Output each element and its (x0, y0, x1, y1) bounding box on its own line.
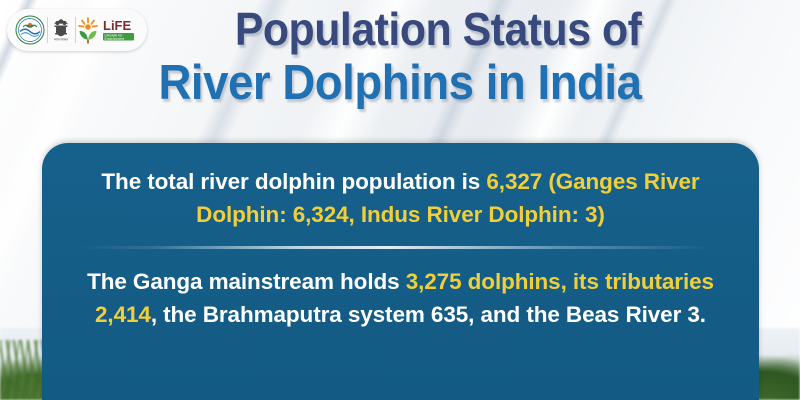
svg-text:Environment: Environment (105, 37, 125, 41)
breakdown-lead-text: The Ganga mainstream holds (87, 269, 399, 294)
ministry-emblem-logo (15, 15, 45, 45)
statistic-paragraph-total: The total river dolphin population is 6,… (72, 165, 729, 231)
panel-divider (76, 246, 725, 249)
logo-divider (75, 17, 76, 43)
logo-bar: भारत सरकार LiFE Lifestyle for Environmen… (7, 9, 147, 51)
logo-divider (47, 17, 48, 43)
national-emblem-logo: भारत सरकार (49, 17, 73, 44)
statistic-paragraph-breakdown: The Ganga mainstream holds 3,275 dolphin… (72, 265, 729, 331)
statistics-panel: The total river dolphin population is 6,… (42, 143, 759, 400)
svg-text:भारत सरकार: भारत सरकार (54, 37, 69, 41)
breakdown-trailing-text: , the Brahmaputra system 635, and the Be… (151, 302, 706, 327)
svg-text:LiFE: LiFE (103, 18, 131, 33)
title-line-2: River Dolphins in India (28, 59, 772, 108)
life-logo: LiFE Lifestyle for Environment (77, 15, 139, 45)
total-population-label: The total river dolphin population is (101, 169, 480, 194)
